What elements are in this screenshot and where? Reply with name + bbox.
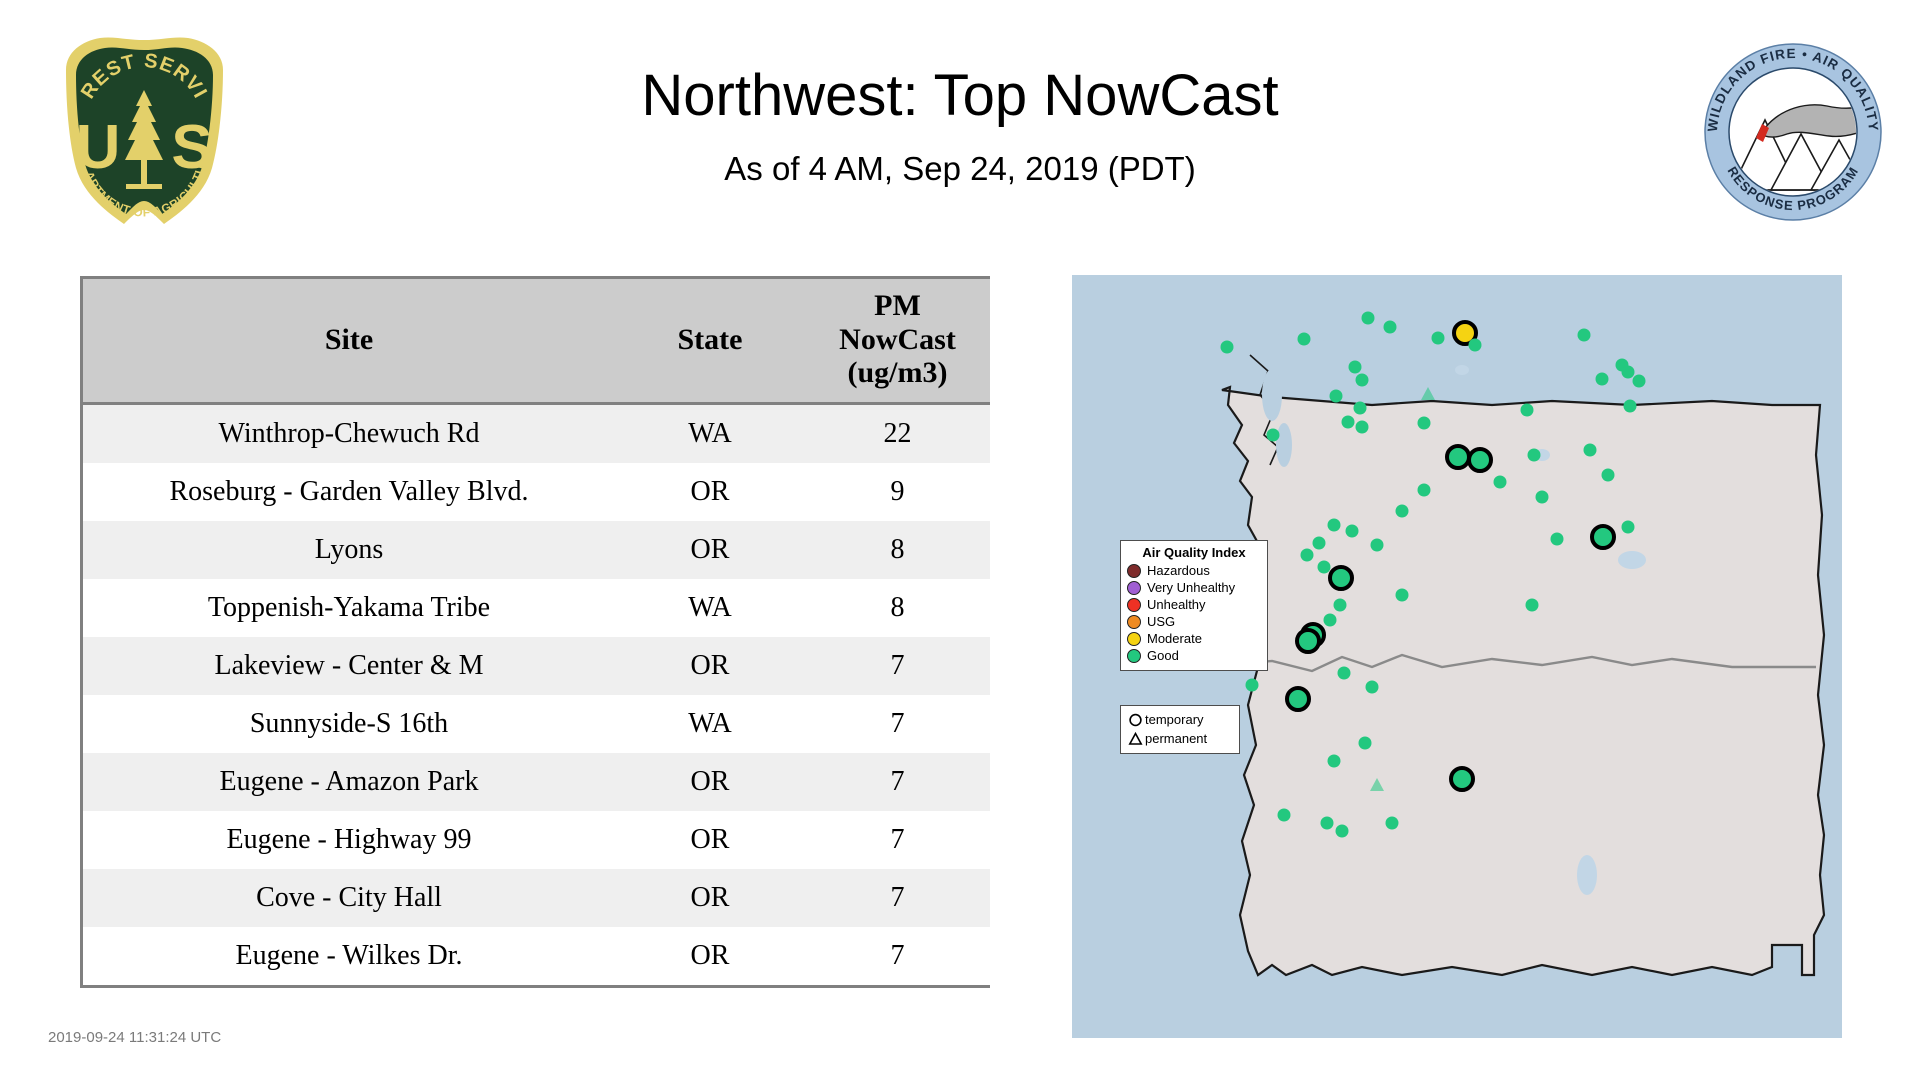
pm-nowcast-value: 7 xyxy=(805,811,990,869)
monitor-marker[interactable] xyxy=(1596,373,1609,386)
site-name: Roseburg - Garden Valley Blvd. xyxy=(83,463,615,521)
page-title: Northwest: Top NowCast xyxy=(300,62,1620,129)
nowcast-table: Site State PM NowCast (ug/m3) Winthrop-C… xyxy=(80,276,990,988)
aqi-legend-items: HazardousVery UnhealthyUnhealthyUSGModer… xyxy=(1127,562,1261,664)
monitor-marker[interactable] xyxy=(1447,446,1469,468)
monitor-marker[interactable] xyxy=(1354,402,1367,415)
monitor-marker[interactable] xyxy=(1469,449,1491,471)
table-row: Eugene - Highway 99OR7 xyxy=(83,811,990,869)
site-name: Sunnyside-S 16th xyxy=(83,695,615,753)
state-code: OR xyxy=(615,521,805,579)
pm-header-line3: (ug/m3) xyxy=(805,356,990,390)
aqi-color-swatch-icon xyxy=(1127,598,1141,612)
state-code: WA xyxy=(615,695,805,753)
state-code: OR xyxy=(615,753,805,811)
forest-service-shield-logo: FOREST SERVICE U S DEPARTMENT OF AGRICUL… xyxy=(52,28,237,228)
aqi-legend-label: Good xyxy=(1147,648,1179,663)
wildland-fire-air-quality-seal: WILDLAND FIRE • AIR QUALITY RESPONSE PRO… xyxy=(1703,42,1883,222)
column-header-pm-nowcast: PM NowCast (ug/m3) xyxy=(805,279,990,403)
slide-root: FOREST SERVICE U S DEPARTMENT OF AGRICUL… xyxy=(0,0,1920,1080)
pm-nowcast-value: 8 xyxy=(805,521,990,579)
monitor-marker[interactable] xyxy=(1324,614,1337,627)
site-name: Cove - City Hall xyxy=(83,869,615,927)
pm-nowcast-value: 7 xyxy=(805,637,990,695)
aqi-legend-row: Good xyxy=(1127,647,1261,664)
table-row: Eugene - Amazon ParkOR7 xyxy=(83,753,990,811)
monitor-marker[interactable] xyxy=(1432,332,1445,345)
legend-temporary: temporary xyxy=(1128,710,1233,729)
monitor-marker[interactable] xyxy=(1469,339,1482,352)
monitor-marker[interactable] xyxy=(1622,366,1635,379)
state-code: OR xyxy=(615,463,805,521)
triangle-icon xyxy=(1128,731,1145,746)
aqi-legend: Air Quality Index HazardousVery Unhealth… xyxy=(1120,540,1268,671)
pm-nowcast-value: 7 xyxy=(805,869,990,927)
column-header-site: Site xyxy=(83,279,615,403)
monitor-marker[interactable] xyxy=(1328,755,1341,768)
site-name: Lakeview - Center & M xyxy=(83,637,615,695)
state-code: OR xyxy=(615,637,805,695)
monitor-marker[interactable] xyxy=(1384,321,1397,334)
monitor-marker[interactable] xyxy=(1386,817,1399,830)
monitor-marker[interactable] xyxy=(1278,809,1291,822)
monitor-marker[interactable] xyxy=(1330,567,1352,589)
state-code: OR xyxy=(615,811,805,869)
monitor-marker[interactable] xyxy=(1624,400,1637,413)
pm-nowcast-value: 9 xyxy=(805,463,990,521)
aqi-legend-row: USG xyxy=(1127,613,1261,630)
aqi-color-swatch-icon xyxy=(1127,615,1141,629)
page-subtitle: As of 4 AM, Sep 24, 2019 (PDT) xyxy=(300,150,1620,188)
aqi-legend-row: Moderate xyxy=(1127,630,1261,647)
monitor-marker[interactable] xyxy=(1349,361,1362,374)
monitor-marker[interactable] xyxy=(1521,404,1534,417)
monitor-marker[interactable] xyxy=(1396,505,1409,518)
site-name: Eugene - Highway 99 xyxy=(83,811,615,869)
monitor-marker[interactable] xyxy=(1526,599,1539,612)
monitor-marker[interactable] xyxy=(1592,526,1614,548)
column-header-state: State xyxy=(615,279,805,403)
monitor-marker[interactable] xyxy=(1313,537,1326,550)
state-code: OR xyxy=(615,927,805,985)
pm-nowcast-value: 7 xyxy=(805,695,990,753)
table-row: Winthrop-Chewuch RdWA22 xyxy=(83,403,990,463)
monitor-marker[interactable] xyxy=(1267,429,1280,442)
monitor-marker[interactable] xyxy=(1301,549,1314,562)
monitor-marker[interactable] xyxy=(1418,484,1431,497)
table-header-row: Site State PM NowCast (ug/m3) xyxy=(83,279,990,403)
pm-nowcast-value: 7 xyxy=(805,927,990,985)
pm-header-line1: PM xyxy=(805,289,990,323)
aqi-color-swatch-icon xyxy=(1127,632,1141,646)
state-code: WA xyxy=(615,403,805,463)
aqi-color-swatch-icon xyxy=(1127,581,1141,595)
aqi-legend-title: Air Quality Index xyxy=(1127,545,1261,560)
aqi-legend-label: Hazardous xyxy=(1147,563,1210,578)
aqi-legend-label: Unhealthy xyxy=(1147,597,1206,612)
table-row: Roseburg - Garden Valley Blvd.OR9 xyxy=(83,463,990,521)
aqi-color-swatch-icon xyxy=(1127,564,1141,578)
monitor-marker[interactable] xyxy=(1356,374,1369,387)
monitor-marker[interactable] xyxy=(1362,312,1375,325)
monitor-marker[interactable] xyxy=(1287,688,1309,710)
generated-timestamp: 2019-09-24 11:31:24 UTC xyxy=(48,1029,221,1046)
monitor-marker[interactable] xyxy=(1371,539,1384,552)
monitor-marker[interactable] xyxy=(1494,476,1507,489)
table-row: Cove - City HallOR7 xyxy=(83,869,990,927)
pm-nowcast-value: 22 xyxy=(805,403,990,463)
aqi-legend-row: Hazardous xyxy=(1127,562,1261,579)
monitor-marker[interactable] xyxy=(1536,491,1549,504)
monitor-marker[interactable] xyxy=(1321,817,1334,830)
pm-header-line2: NowCast xyxy=(805,323,990,357)
monitor-marker[interactable] xyxy=(1298,333,1311,346)
site-name: Toppenish-Yakama Tribe xyxy=(83,579,615,637)
monitor-marker[interactable] xyxy=(1622,521,1635,534)
monitor-marker[interactable] xyxy=(1334,599,1347,612)
table-row: LyonsOR8 xyxy=(83,521,990,579)
monitor-marker[interactable] xyxy=(1338,667,1351,680)
legend-permanent-label: permanent xyxy=(1145,731,1207,746)
legend-permanent: permanent xyxy=(1128,729,1233,748)
monitor-marker[interactable] xyxy=(1318,561,1331,574)
site-name: Eugene - Wilkes Dr. xyxy=(83,927,615,985)
monitor-marker[interactable] xyxy=(1366,681,1379,694)
site-name: Eugene - Amazon Park xyxy=(83,753,615,811)
table-row: Lakeview - Center & MOR7 xyxy=(83,637,990,695)
monitor-marker[interactable] xyxy=(1551,533,1564,546)
monitor-marker[interactable] xyxy=(1578,329,1591,342)
circle-icon xyxy=(1128,712,1145,727)
pm-nowcast-value: 7 xyxy=(805,753,990,811)
northwest-aqi-map[interactable]: Air Quality Index HazardousVery Unhealth… xyxy=(1072,275,1842,1038)
monitor-marker[interactable] xyxy=(1396,589,1409,602)
monitor-marker[interactable] xyxy=(1451,768,1473,790)
monitor-marker[interactable] xyxy=(1359,737,1372,750)
monitor-marker[interactable] xyxy=(1356,421,1369,434)
fs-letter-u: U xyxy=(76,113,121,182)
aqi-legend-label: Moderate xyxy=(1147,631,1202,646)
table-row: Sunnyside-S 16thWA7 xyxy=(83,695,990,753)
table-row: Toppenish-Yakama TribeWA8 xyxy=(83,579,990,637)
monitor-marker[interactable] xyxy=(1221,341,1234,354)
table-body: Winthrop-Chewuch RdWA22Roseburg - Garden… xyxy=(83,403,990,985)
legend-temporary-label: temporary xyxy=(1145,712,1204,727)
table-row: Eugene - Wilkes Dr.OR7 xyxy=(83,927,990,985)
state-code: OR xyxy=(615,869,805,927)
site-name: Winthrop-Chewuch Rd xyxy=(83,403,615,463)
monitor-marker[interactable] xyxy=(1328,519,1341,532)
monitor-type-legend: temporary permanent xyxy=(1120,705,1240,754)
monitor-marker[interactable] xyxy=(1330,390,1343,403)
monitor-marker[interactable] xyxy=(1246,679,1259,692)
monitor-marker[interactable] xyxy=(1418,417,1431,430)
monitor-marker[interactable] xyxy=(1342,416,1355,429)
monitor-marker[interactable] xyxy=(1633,375,1646,388)
site-name: Lyons xyxy=(83,521,615,579)
monitor-marker[interactable] xyxy=(1346,525,1359,538)
aqi-legend-label: Very Unhealthy xyxy=(1147,580,1235,595)
monitor-marker[interactable] xyxy=(1584,444,1597,457)
state-code: WA xyxy=(615,579,805,637)
aqi-legend-label: USG xyxy=(1147,614,1175,629)
monitor-marker[interactable] xyxy=(1297,630,1319,652)
monitor-marker[interactable] xyxy=(1602,469,1615,482)
aqi-legend-row: Very Unhealthy xyxy=(1127,579,1261,596)
aqi-color-swatch-icon xyxy=(1127,649,1141,663)
monitor-marker[interactable] xyxy=(1528,449,1541,462)
pm-nowcast-value: 8 xyxy=(805,579,990,637)
aqi-legend-row: Unhealthy xyxy=(1127,596,1261,613)
monitor-marker[interactable] xyxy=(1336,825,1349,838)
